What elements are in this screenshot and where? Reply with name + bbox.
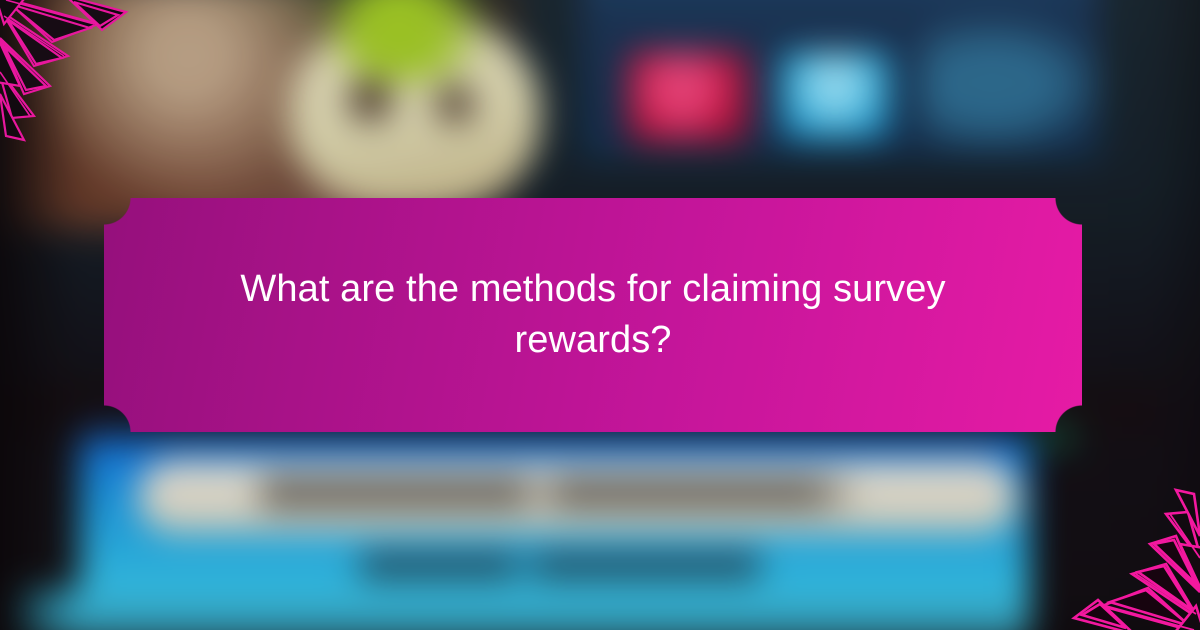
poster-canvas: What are the methods for claiming survey… — [0, 0, 1200, 630]
question-banner: What are the methods for claiming survey… — [104, 198, 1082, 432]
page-title: What are the methods for claiming survey… — [213, 264, 973, 365]
